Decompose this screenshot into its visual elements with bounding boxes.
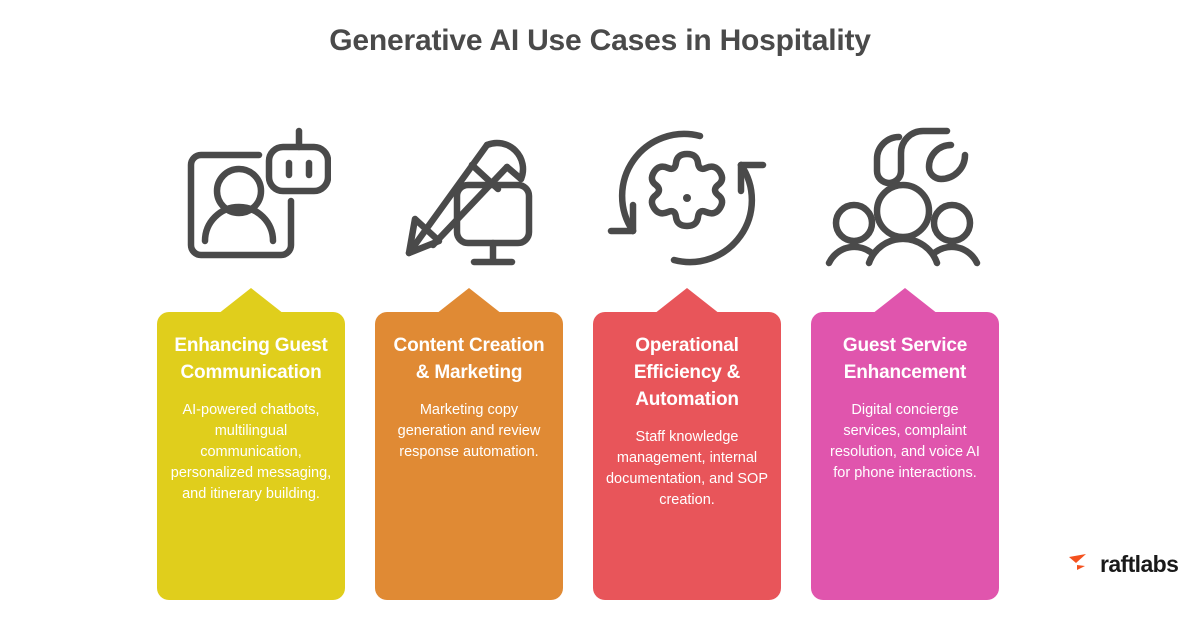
use-case-card-4[interactable]: Guest Service Enhancement Digital concie… xyxy=(811,288,999,600)
chatbot-person-icon xyxy=(171,123,331,273)
card-pointer xyxy=(654,288,720,314)
icon-cell-2 xyxy=(375,118,563,278)
card-body: Enhancing Guest Communication AI-powered… xyxy=(157,312,345,600)
card-description: Digital concierge services, complaint re… xyxy=(823,400,987,484)
card-body: Guest Service Enhancement Digital concie… xyxy=(811,312,999,600)
icon-row xyxy=(157,118,1043,278)
card-row: Enhancing Guest Communication AI-powered… xyxy=(157,288,1043,600)
infographic-root: Generative AI Use Cases in Hospitality xyxy=(0,0,1200,620)
card-description: AI-powered chatbots, multilingual commun… xyxy=(169,400,333,505)
card-title: Operational Efficiency & Automation xyxy=(605,332,769,413)
raftlabs-logo-text: raftlabs xyxy=(1100,553,1178,576)
icon-cell-4 xyxy=(811,118,999,278)
use-case-card-1[interactable]: Enhancing Guest Communication AI-powered… xyxy=(157,288,345,600)
use-case-card-3[interactable]: Operational Efficiency & Automation Staf… xyxy=(593,288,781,600)
use-case-card-2[interactable]: Content Creation & Marketing Marketing c… xyxy=(375,288,563,600)
icon-cell-1 xyxy=(157,118,345,278)
people-group-waves-icon xyxy=(825,123,985,273)
card-pointer xyxy=(218,288,284,314)
raftlabs-arrow-mark xyxy=(1068,550,1092,579)
card-description: Marketing copy generation and review res… xyxy=(387,400,551,463)
card-title: Guest Service Enhancement xyxy=(823,332,987,386)
card-title: Content Creation & Marketing xyxy=(387,332,551,386)
card-title: Enhancing Guest Communication xyxy=(169,332,333,386)
card-pointer xyxy=(872,288,938,314)
card-pointer xyxy=(436,288,502,314)
icon-cell-3 xyxy=(593,118,781,278)
card-body: Operational Efficiency & Automation Staf… xyxy=(593,312,781,600)
card-description: Staff knowledge management, internal doc… xyxy=(605,427,769,511)
gear-refresh-icon xyxy=(607,123,767,273)
raftlabs-logo[interactable]: raftlabs xyxy=(1068,550,1178,579)
pencil-monitor-icon xyxy=(389,123,549,273)
card-body: Content Creation & Marketing Marketing c… xyxy=(375,312,563,600)
page-title: Generative AI Use Cases in Hospitality xyxy=(0,21,1200,61)
